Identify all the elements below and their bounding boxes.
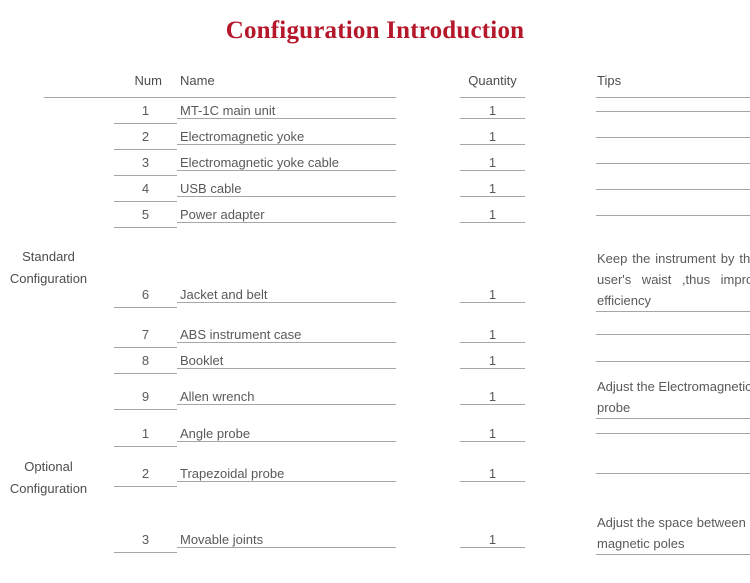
cell-name: Electromagnetic yoke [177,124,419,150]
cell-quantity: 1 [419,124,551,150]
cell-quantity: 1 [419,500,551,558]
cell-quantity: 1 [419,228,551,321]
table-row: 1 Angle probe 1 [0,420,750,447]
header-cell-num: Num [97,72,177,98]
group-label-line-1: Optional [0,456,97,478]
name-value: Movable joints [180,532,263,547]
table-row: 3 Electromagnetic yoke cable 1 [0,150,750,176]
num-value: 8 [142,348,149,373]
cell-num: 7 [97,321,177,348]
name-value: Jacket and belt [180,287,267,302]
column-header-tips: Tips [597,73,621,97]
num-value: 2 [142,124,149,149]
cell-tips: Adjust the space between magnetic poles [551,500,750,558]
name-value: ABS instrument case [180,327,301,342]
cell-name: Booklet [177,348,419,374]
column-header-num: Num [44,73,162,97]
header-cell-name: Name [177,72,419,98]
cell-name: Trapezoidal probe [177,447,419,500]
quantity-value: 1 [489,287,496,302]
cell-quantity: 1 [419,98,551,124]
cell-num: 2 [97,124,177,150]
cell-tips: Adjust the Electromagnetic yoke probe [551,374,750,420]
num-value: 9 [142,384,149,409]
cell-num: 5 [97,202,177,228]
num-value: 3 [142,150,149,175]
quantity-value: 1 [489,532,496,547]
cell-num: 2 [97,447,177,500]
quantity-value: 1 [489,103,496,118]
cell-name: Angle probe [177,420,419,447]
cell-tips [551,98,750,124]
table-row: 1 MT-1C main unit 1 [0,98,750,124]
cell-quantity: 1 [419,420,551,447]
header-quantity-rule: Quantity [460,73,525,98]
cell-quantity: 1 [419,348,551,374]
num-value: 4 [142,176,149,201]
quantity-value: 1 [489,181,496,196]
tips-value: Adjust the Electromagnetic yoke probe [597,376,750,418]
cell-num: 3 [97,500,177,558]
quantity-value: 1 [489,155,496,170]
cell-tips [551,321,750,348]
num-value: 1 [142,421,149,446]
quantity-value: 1 [489,129,496,144]
cell-num: 8 [97,348,177,374]
cell-tips [551,447,750,500]
cell-tips [551,348,750,374]
name-value: Power adapter [180,207,265,222]
group-label-cell [0,150,97,176]
name-value: USB cable [180,181,241,196]
table-row: Optional Configuration 2 Trapezoidal pro… [0,447,750,500]
name-value: Angle probe [180,426,250,441]
header-cell-quantity: Quantity [419,72,551,98]
table-header-row: Num Name Quantity Tips [0,72,750,98]
quantity-value: 1 [489,389,496,404]
group-label-cell [0,348,97,374]
cell-name: MT-1C main unit [177,98,419,124]
num-value: 6 [142,282,149,307]
name-value: Electromagnetic yoke [180,129,304,144]
cell-quantity: 1 [419,321,551,348]
cell-name: Allen wrench [177,374,419,420]
cell-tips [551,420,750,447]
group-label-optional: Optional Configuration [0,447,97,500]
quantity-value: 1 [489,327,496,342]
cell-num: 3 [97,150,177,176]
group-label-line-1: Standard [0,246,97,268]
num-value: 5 [142,202,149,227]
quantity-value: 1 [489,466,496,481]
cell-name: Electromagnetic yoke cable [177,150,419,176]
cell-num: 9 [97,374,177,420]
table-row: 9 Allen wrench 1 Adjust the Electromagne… [0,374,750,420]
name-value: Booklet [180,353,223,368]
cell-tips [551,176,750,202]
cell-tips [551,124,750,150]
quantity-value: 1 [489,353,496,368]
num-value: 2 [142,461,149,486]
group-label-cell [0,124,97,150]
cell-num: 6 [97,228,177,321]
cell-name: Power adapter [177,202,419,228]
group-label-line-2: Configuration [0,478,97,500]
table-row: 5 Power adapter 1 [0,202,750,228]
name-value: Electromagnetic yoke cable [180,155,339,170]
group-label-cell [0,98,97,124]
num-value: 3 [142,527,149,552]
cell-quantity: 1 [419,176,551,202]
cell-tips [551,150,750,176]
group-label-cell [0,321,97,348]
table-row: 4 USB cable 1 [0,176,750,202]
column-header-name: Name [180,73,215,97]
page-title: Configuration Introduction [0,17,750,45]
table-row: 2 Electromagnetic yoke 1 [0,124,750,150]
name-value: MT-1C main unit [180,103,275,118]
table-row: 7 ABS instrument case 1 [0,321,750,348]
group-label-cell [0,374,97,420]
cell-num: 1 [97,420,177,447]
cell-quantity: 1 [419,202,551,228]
group-label-line-2: Configuration [0,268,97,290]
cell-num: 4 [97,176,177,202]
header-name-rule: Name [177,73,396,98]
header-num-rule: Num [44,73,177,98]
cell-tips [551,202,750,228]
column-header-quantity: Quantity [468,73,516,97]
table-row: 3 Movable joints 1 Adjust the space betw… [0,500,750,558]
group-label-cell [0,500,97,558]
num-value: 7 [142,322,149,347]
group-label-standard: Standard Configuration [0,228,97,321]
configuration-table: Num Name Quantity Tips [0,72,750,558]
quantity-value: 1 [489,207,496,222]
cell-name: ABS instrument case [177,321,419,348]
table-row: Standard Configuration 6 Jacket and belt… [0,228,750,321]
name-value: Trapezoidal probe [180,466,284,481]
group-label-cell [0,420,97,447]
group-label-cell [0,176,97,202]
header-cell-tips: Tips [551,72,750,98]
cell-name: Movable joints [177,500,419,558]
table-row: 8 Booklet 1 [0,348,750,374]
quantity-value: 1 [489,426,496,441]
cell-quantity: 1 [419,150,551,176]
name-value: Allen wrench [180,389,254,404]
group-label-cell [0,202,97,228]
num-value: 1 [142,98,149,123]
tips-value: Adjust the space between magnetic poles [597,512,750,554]
cell-quantity: 1 [419,374,551,420]
cell-name: USB cable [177,176,419,202]
configuration-table-wrapper: Num Name Quantity Tips [0,72,750,558]
cell-tips: Keep the instrument by the side of user'… [551,228,750,321]
cell-name: Jacket and belt [177,228,419,321]
cell-num: 1 [97,98,177,124]
tips-value: Keep the instrument by the side of user'… [597,248,750,311]
header-tips-rule: Tips [596,73,750,98]
cell-quantity: 1 [419,447,551,500]
